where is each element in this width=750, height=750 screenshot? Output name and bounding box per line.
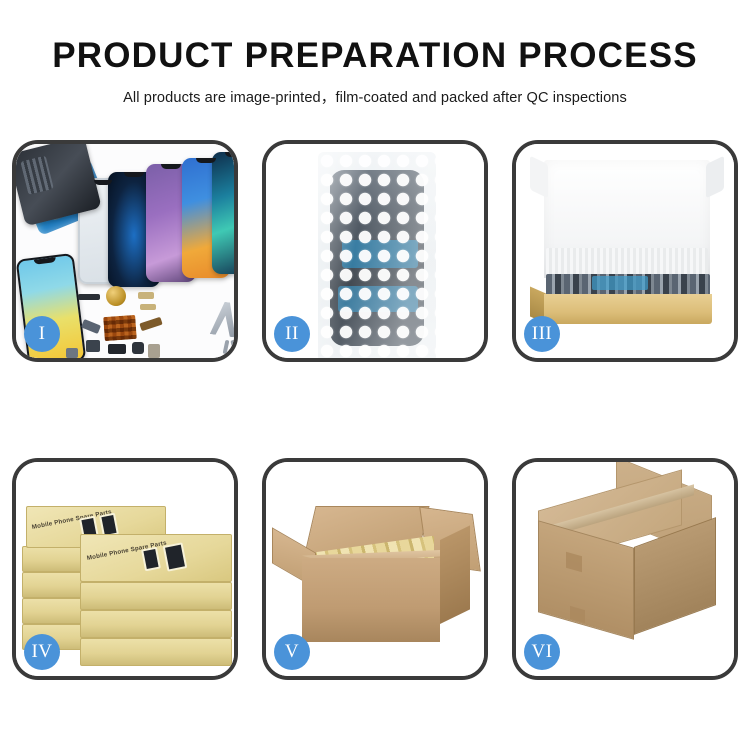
- step-badge-4: IV: [24, 634, 60, 670]
- page-title: PRODUCT PREPARATION PROCESS: [0, 36, 750, 75]
- step-badge-2: II: [274, 316, 310, 352]
- film-sheen: [318, 152, 436, 358]
- step-panel-6[interactable]: VI: [512, 458, 738, 680]
- step-badge-3: III: [524, 316, 560, 352]
- wrapped-items-row: [546, 274, 710, 296]
- kraft-box-top-right: Mobile Phone Spare Parts: [80, 534, 232, 582]
- carton-front-panel: [302, 558, 440, 642]
- sim-tray-part-icon: [148, 344, 160, 358]
- kraft-box: [80, 582, 232, 610]
- step-panel-4[interactable]: Mobile Phone Spare Parts Mobile Phone Sp…: [12, 458, 238, 680]
- process-steps-grid: I II: [12, 140, 738, 680]
- page-subtitle: All products are image-printed，film-coat…: [0, 86, 750, 107]
- inner-box-front: [544, 294, 712, 324]
- button-part-icon: [132, 342, 144, 354]
- earpiece-part-icon: [78, 294, 100, 300]
- flex-strip-part-icon: [140, 304, 156, 310]
- step-panel-2[interactable]: II: [262, 140, 488, 362]
- step-panel-5[interactable]: V: [262, 458, 488, 680]
- screwdriver-icon: [224, 340, 234, 358]
- vibrator-part-icon: [108, 344, 126, 354]
- camera-module-part-icon: [86, 340, 100, 352]
- chip-grid-icon: [103, 315, 137, 341]
- speaker-coil-icon: [106, 286, 126, 306]
- product-preparation-infographic: PRODUCT PREPARATION PROCESS All products…: [0, 0, 750, 750]
- step-badge-6: VI: [524, 634, 560, 670]
- carton-side-panel: [440, 525, 470, 624]
- bubble-wrap-package: [318, 152, 436, 358]
- kraft-box: [80, 638, 232, 666]
- step-badge-1: I: [24, 316, 60, 352]
- header: PRODUCT PREPARATION PROCESS All products…: [0, 36, 750, 107]
- phone-display-teal: [212, 152, 234, 274]
- step-badge-5: V: [274, 634, 310, 670]
- kraft-box: [80, 610, 232, 638]
- step-panel-1[interactable]: I: [12, 140, 238, 362]
- flex-strip-part-icon: [138, 292, 154, 299]
- sensor-part-icon: [66, 348, 78, 358]
- step-panel-3[interactable]: III: [512, 140, 738, 362]
